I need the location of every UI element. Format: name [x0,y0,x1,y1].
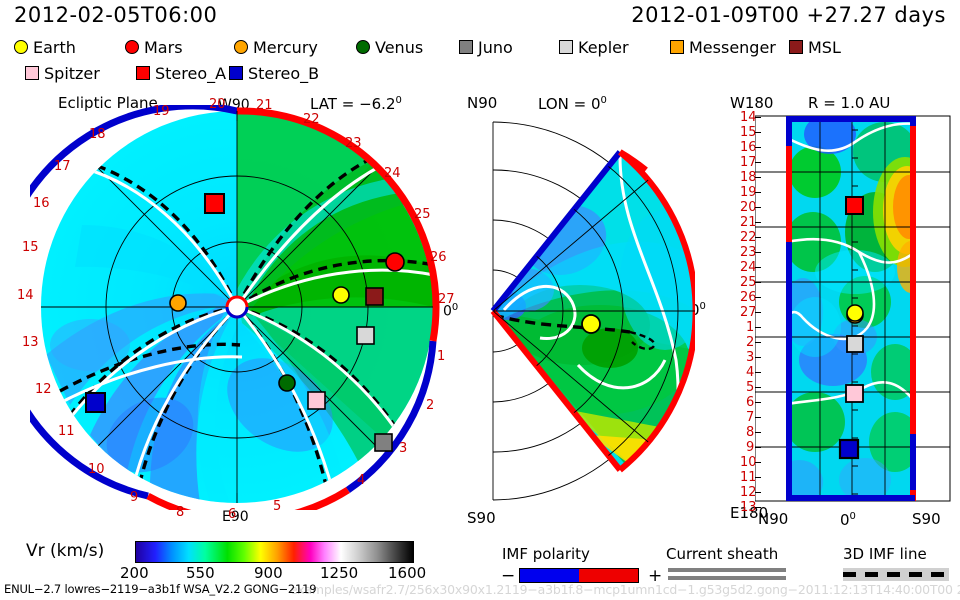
positive-polarity-swatch [579,569,638,582]
legend-label: Mercury [253,38,318,57]
run-start-timestamp: 2012-01-09T00 +27.27 days [631,5,946,26]
tick-label: 17 [54,159,71,174]
radial-tick-mark [755,462,761,463]
earth-marker-icon [14,40,28,54]
radial-tick-mark [755,252,761,253]
mars-marker-icon [125,40,139,54]
legend-label: Stereo_A [155,64,226,83]
imf-polarity-legend-title: IMF polarity [502,545,590,563]
radial-tick-label: 5 [746,380,754,395]
legend-item-spitzer: Spitzer [25,64,100,82]
colorbar-gradient [136,542,413,562]
tick-label: 27 [438,292,455,307]
radial-tick-mark [755,432,761,433]
tick-label: 12 [35,382,52,397]
tick-label: 10 [88,462,105,477]
spitzer-marker [846,385,863,402]
radial-tick-label: 7 [746,410,754,425]
current-sheath-swatch [668,568,786,582]
legend-label: Venus [375,38,423,57]
messenger-marker-icon [670,40,684,54]
tick-label: 5 [273,499,281,514]
current-sheath-legend-title: Current sheath [666,545,778,563]
radial-tick-mark [755,387,761,388]
colorbar [135,541,414,563]
lat-zero: 0 [840,511,850,529]
radial-tick-mark [755,357,761,358]
model-credit: ENUL−2.7 lowres−2119−a3b1f WSA_V2.2 GONG… [4,584,316,596]
radial-tick-label: 2 [746,335,754,350]
spitzer-marker [308,392,325,409]
kepler-marker [357,327,374,344]
radial-tick-mark [755,417,761,418]
radial-tick-mark [755,372,761,373]
radial-tick-mark [755,207,761,208]
tick-label: 9 [130,490,138,505]
imf-polarity-swatch [519,568,639,583]
mercury-marker-icon [234,40,248,54]
tick-label: 2 [426,398,434,413]
earth-marker [333,287,349,303]
legend-label: Messenger [689,38,776,57]
radial-tick-mark [755,507,761,508]
radial-tick-mark [755,117,761,118]
radial-tick-label: 6 [746,395,754,410]
radial-tick-mark [755,162,761,163]
tick-label: 25 [414,207,431,222]
venus-marker-icon [356,40,370,54]
run-path-watermark: examples/wsafr2.7/256x30x90x1.2119−a3b1f… [290,584,960,597]
degree-sup: 0 [850,511,856,522]
msl-marker-icon [789,40,803,54]
colorbar-tick: 200 [120,564,149,582]
tick-label: 24 [384,166,401,181]
legend-item-stereo-b: Stereo_B [229,64,319,82]
legend-label: Spitzer [44,64,100,83]
radial-tick-mark [755,402,761,403]
tick-label: 16 [33,196,50,211]
imf-line-legend-title: 3D IMF line [843,545,927,563]
degree-sup: 0 [700,301,706,312]
radial-tick-mark [755,297,761,298]
mars-marker [386,253,404,271]
radial-tick-mark [755,282,761,283]
legend-item-stereo-a: Stereo_A [136,64,226,82]
tick-label: 26 [430,250,447,265]
meridional-top-label: N90 [467,96,497,111]
stereo-a-marker [205,194,224,213]
radial-tick-mark [755,147,761,148]
tick-label: 11 [58,424,75,439]
stereo-a-marker-icon [136,66,150,80]
radial-tick-mark [755,192,761,193]
legend-item-messenger: Messenger [670,38,776,56]
tick-label: 20 [209,97,226,112]
kepler-marker-icon [559,40,573,54]
radial-tick-label: 1 [746,320,754,335]
meridional-plane-plot [460,110,695,510]
colorbar-tick: 1250 [320,564,358,582]
legend-label: Stereo_B [248,64,319,83]
tick-label: 23 [345,136,362,151]
legend-label: Earth [33,38,76,57]
legend-item-mars: Mars [125,38,183,56]
tick-label: 6 [228,507,236,522]
legend-item-mercury: Mercury [234,38,318,56]
venus-marker [279,375,295,391]
stereo-b-marker-icon [229,66,243,80]
tick-label: 8 [176,505,184,520]
radial-bottom-label-zero: 00 [840,512,856,528]
legend-label: Mars [144,38,183,57]
sheath-line-2 [668,576,786,580]
radial-tick-mark [755,477,761,478]
tick-label: 1 [437,349,445,364]
legend-item-kepler: Kepler [559,38,629,56]
juno-marker-icon [459,40,473,54]
body-legend-row-2: Spitzer Stereo_A Stereo_B [0,64,960,82]
stereo-a-marker [846,197,863,214]
colorbar-tick: 1600 [388,564,426,582]
current-timestamp: 2012-02-05T06:00 [14,5,217,26]
earth-marker [847,305,863,321]
degree-sup: 0 [601,95,607,106]
body-legend-row-1: Earth Mars Mercury Venus Juno Kepler Mes… [0,38,960,56]
radial-tick-mark [755,312,761,313]
colorbar-tick: 550 [186,564,215,582]
imf-line-swatch [843,568,949,581]
legend-item-juno: Juno [459,38,513,56]
colorbar-label: Vr (km/s) [26,543,104,560]
radial-bottom-label-n90: N90 [758,512,788,527]
radial-tick-label: 9 [746,440,754,455]
legend-label: Juno [478,38,513,57]
spitzer-marker-icon [25,66,39,80]
tick-label: 21 [256,98,273,113]
legend-item-venus: Venus [356,38,423,56]
tick-label: 3 [399,441,407,456]
juno-marker [375,434,392,451]
negative-polarity-swatch [520,569,579,582]
radial-tick-mark [755,177,761,178]
radial-panel-title: R = 1.0 AU [808,96,890,111]
meridional-bottom-label: S90 [467,511,496,526]
tick-label: 19 [153,104,170,119]
legend-item-earth: Earth [14,38,76,56]
tick-label: 4 [357,473,365,488]
tick-label: 22 [303,112,320,127]
tick-label: 18 [89,127,106,142]
radial-tick-mark [755,267,761,268]
earth-marker [582,315,600,333]
kepler-marker [847,336,863,352]
legend-item-msl: MSL [789,38,841,56]
radial-1au-plot [755,112,960,507]
radial-tick-mark [755,342,761,343]
radial-tick-label: 3 [746,350,754,365]
radial-tick-label: 4 [746,365,754,380]
radial-tick-mark [755,222,761,223]
tick-label: 15 [22,240,39,255]
legend-label: MSL [808,38,841,57]
radial-tick-mark [755,447,761,448]
stereo-b-marker [86,393,105,412]
stereo-b-marker [840,440,858,458]
radial-tick-mark [755,327,761,328]
radial-tick-label: 8 [746,425,754,440]
radial-top-left-label: W180 [730,96,773,111]
tick-label: 13 [22,335,39,350]
imf-dash-pattern [843,572,949,577]
tick-label: 14 [17,288,34,303]
radial-tick-mark [755,132,761,133]
radial-bottom-label-s90: S90 [912,512,941,527]
colorbar-tick: 900 [254,564,283,582]
msl-marker [366,288,383,305]
radial-tick-mark [755,237,761,238]
legend-label: Kepler [578,38,629,57]
mercury-marker [170,295,186,311]
figure-canvas: 2012-02-05T06:00 2012-01-09T00 +27.27 da… [0,0,960,600]
radial-tick-mark [755,492,761,493]
sheath-line-1 [668,568,786,572]
